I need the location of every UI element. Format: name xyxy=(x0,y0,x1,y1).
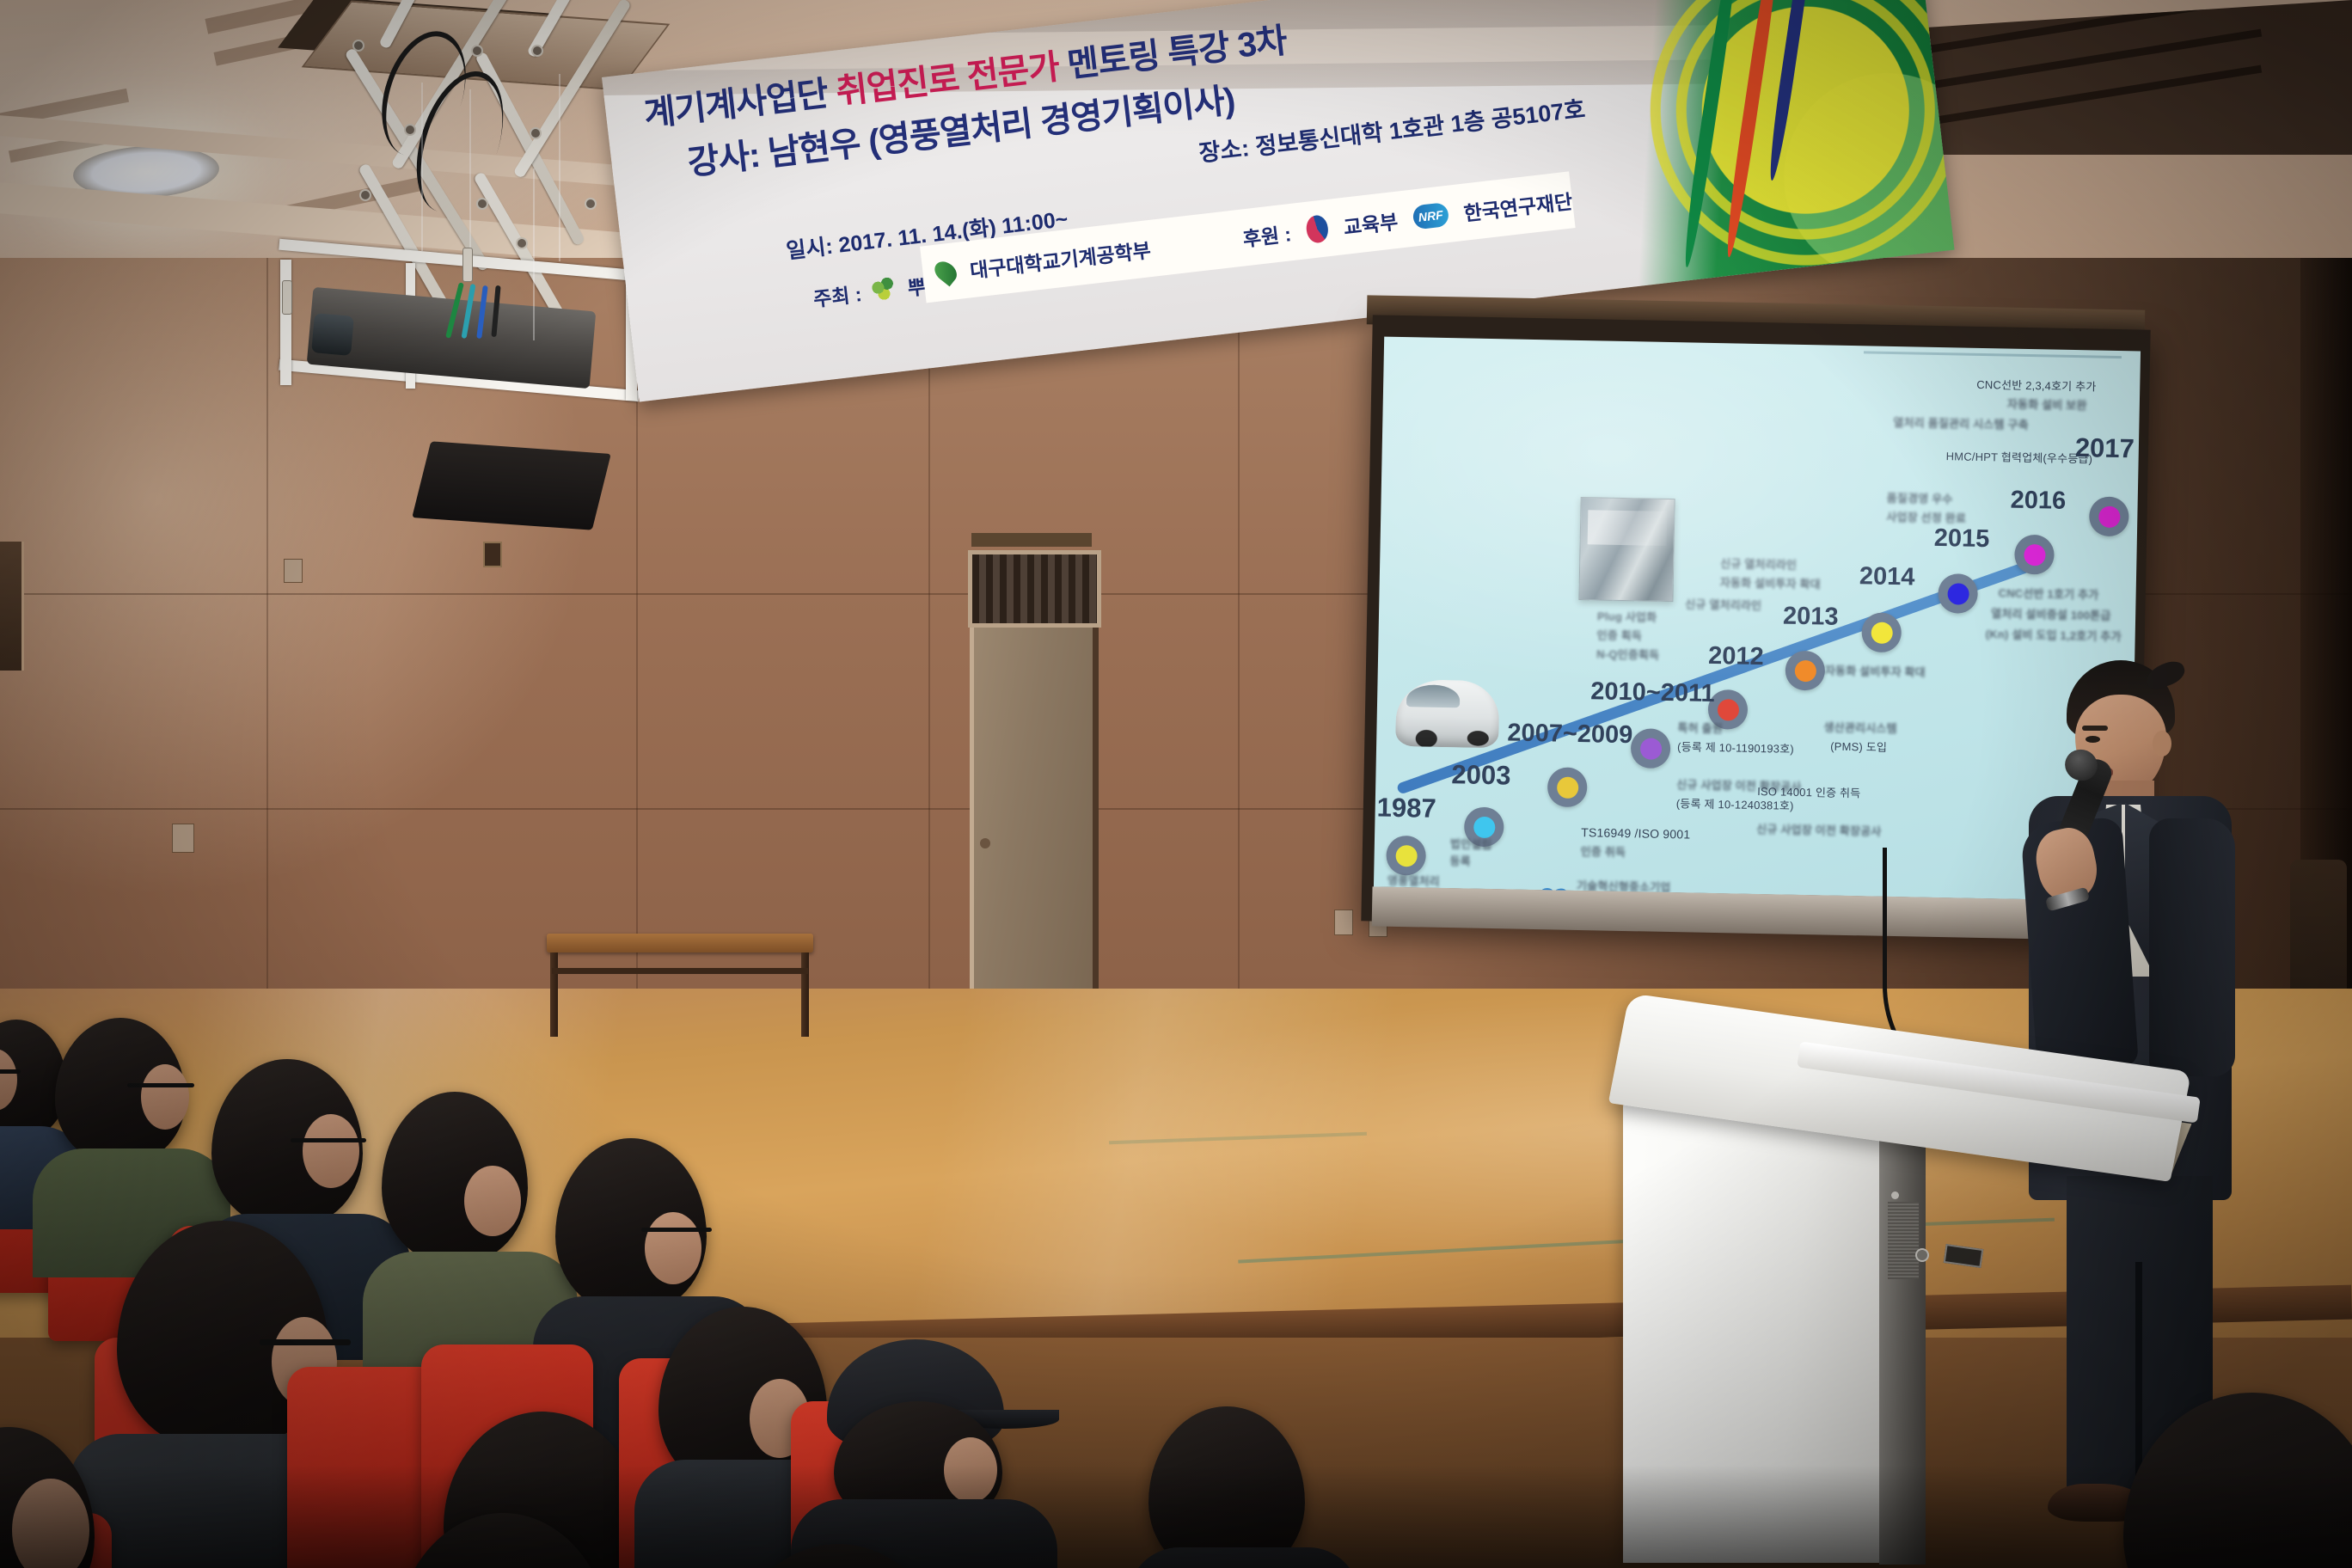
timeline-year-2016: 2016 xyxy=(2010,487,2066,516)
note-hmc-hpt: HMC/HPT 협력업체(우수등급) xyxy=(1945,449,2092,468)
audience-face xyxy=(645,1212,701,1284)
note-2017-2: 자동화 설비 보완 xyxy=(2007,397,2087,415)
note-2013-1: 신규 열처리라인 xyxy=(1720,556,1797,574)
projector-lens-icon xyxy=(311,313,354,356)
eyeglasses-icon xyxy=(0,1069,21,1074)
podium-screw xyxy=(1891,1191,1899,1199)
scissor-pin xyxy=(471,45,483,57)
timeline-year-2010-2011: 2010~2011 xyxy=(1590,677,1715,708)
timeline-year-2007-2009: 2007~2009 xyxy=(1507,719,1633,750)
note-2013-2: 자동화 설비투자 확대 xyxy=(1720,575,1821,593)
podium-lock-plate[interactable] xyxy=(1944,1244,1984,1268)
wall-sensor xyxy=(284,559,303,583)
suspension-wire xyxy=(559,74,560,261)
podium-center-post xyxy=(1879,1135,1926,1565)
banner-host-2: 대구대학교기계공학부 xyxy=(968,234,1152,284)
scissor-pin xyxy=(531,45,543,57)
audience-face xyxy=(464,1166,521,1236)
wire-teal xyxy=(461,284,475,339)
note-1987-line1: 법인설립 xyxy=(1450,836,1492,854)
note-2012-patent-1: 특허 출원 xyxy=(1677,720,1723,738)
note-plug-1: Plug 사업화 xyxy=(1597,609,1657,626)
podium-label-plate xyxy=(1888,1202,1919,1279)
wire-green xyxy=(445,282,464,338)
door-knob-icon[interactable] xyxy=(980,838,990,848)
timeline-year-2014: 2014 xyxy=(1859,562,1915,591)
bench-rail xyxy=(552,968,808,974)
note-cnc-3: (Kn) 설비 도입 1,2호기 추가 xyxy=(1986,627,2122,646)
note-2015-2: 사업장 선정 완료 xyxy=(1886,510,1966,528)
suspension-wire xyxy=(469,89,471,249)
note-cnc-1: CNC선반 1호기 추가 xyxy=(1998,585,2098,603)
wall-frame-panel xyxy=(0,542,24,671)
emergency-sign-icon xyxy=(483,542,502,567)
bench-top xyxy=(547,934,813,952)
eyeglasses-icon xyxy=(127,1083,194,1087)
audience-shoulders xyxy=(1128,1547,1360,1568)
audience-face xyxy=(944,1437,997,1503)
audience xyxy=(0,997,1771,1568)
note-2015-1: 품질경영 우수 xyxy=(1887,491,1953,508)
note-plug-3: N-Q인증획득 xyxy=(1596,646,1659,664)
wall-outlet[interactable] xyxy=(1334,910,1353,935)
lecture-hall-photo: 계기계사업단 취업진로 전문가 멘토링 특강 3차 강사: 남현우 (영풍열처리… xyxy=(0,0,2352,1568)
note-1987-line2: 등록 xyxy=(1449,854,1471,870)
timeline-year-1987: 1987 xyxy=(1376,793,1436,824)
note-iso-14001: ISO 14001 인증 취득 xyxy=(1757,784,1861,802)
banner-sponsor-2: 한국연구재단 xyxy=(1462,185,1574,226)
eyeglasses-icon xyxy=(260,1339,351,1345)
note-pms-1: 생산관리시스템 xyxy=(1823,720,1896,738)
note-ts-cert-1: TS16949 /ISO 9001 xyxy=(1581,824,1691,843)
banner-sponsor-1: 교육부 xyxy=(1342,205,1400,241)
droplet-logo-icon xyxy=(931,258,961,287)
presenter-hair-tuft xyxy=(2143,658,2188,692)
note-2012-patent-2: (등록 제 10-1190193호) xyxy=(1677,739,1794,757)
note-2012-misc: 신규 사업장 이전 확장공사 xyxy=(1756,822,1882,841)
door-transom-louver xyxy=(968,550,1101,628)
timeline-node-2016 xyxy=(2014,535,2055,575)
audience-face xyxy=(141,1064,189,1130)
timeline-node-2007-2009 xyxy=(1547,767,1588,807)
cage-edge xyxy=(279,239,640,282)
timeline-year-2012: 2012 xyxy=(1708,642,1764,671)
scissor-pin xyxy=(585,198,597,210)
scissor-pin xyxy=(530,127,542,139)
presenter-eye xyxy=(2086,736,2100,743)
timeline-node-2015 xyxy=(1938,573,1978,614)
timeline-node-2017 xyxy=(2089,496,2129,536)
eyeglasses-icon xyxy=(291,1138,366,1142)
timeline-node-2013 xyxy=(1785,651,1825,691)
suspension-wire xyxy=(421,83,423,251)
audience-face xyxy=(303,1114,359,1188)
banner-host-label: 주최 : xyxy=(812,278,863,312)
banner-sponsor-label: 후원 : xyxy=(1241,217,1293,252)
presenter-eyebrow xyxy=(2082,726,2108,731)
door-vent-icon xyxy=(971,533,1092,547)
scissor-pin xyxy=(476,198,488,210)
nrf-logo-icon: NRF xyxy=(1412,202,1449,230)
timeline-node-2014 xyxy=(1861,612,1902,652)
projector-wire-bundle xyxy=(447,282,550,342)
wire-blue xyxy=(476,285,488,339)
timeline-year-2013: 2013 xyxy=(1783,603,1839,632)
leaf-logo-icon xyxy=(868,275,900,304)
turnbuckle xyxy=(462,248,473,282)
taegeuk-logo-icon xyxy=(1305,214,1330,244)
projector-cage xyxy=(279,248,640,394)
suspension-wire xyxy=(533,168,535,340)
scissor-pin xyxy=(359,189,371,201)
timeline-year-2015: 2015 xyxy=(1934,524,1990,554)
eyeglasses-icon xyxy=(641,1228,712,1232)
note-pms-2: (PMS) 도입 xyxy=(1830,739,1887,756)
note-2017-1: CNC선반 2,3,4호기 추가 xyxy=(1976,377,2097,396)
presenter-ear xyxy=(2153,731,2171,756)
timeline-node-1987 xyxy=(1386,836,1426,876)
note-cnc-2: 열처리 설비증설 100톤급 xyxy=(1991,606,2111,625)
timeline-node-2010-2011 xyxy=(1631,728,1671,769)
factory-plant-photo xyxy=(1578,497,1675,602)
cage-edge xyxy=(280,260,291,385)
note-ts-cert-2: 인증 취득 xyxy=(1581,844,1626,861)
note-2017-3: 열처리 품질관리 시스템 구축 xyxy=(1893,415,2029,434)
turnbuckle xyxy=(282,280,292,315)
podium-keyhole-icon[interactable] xyxy=(1915,1248,1929,1262)
scissor-pin xyxy=(352,40,364,52)
slide-rule-line xyxy=(1864,351,2122,358)
note-2014-extra: 자동화 설비투자 확대 xyxy=(1825,664,1926,682)
note-plug-2: 인증 획득 xyxy=(1596,628,1642,645)
wire-black xyxy=(491,285,500,337)
timeline-year-2003: 2003 xyxy=(1451,759,1511,791)
note-2013-3: 신규 열처리라인 xyxy=(1685,597,1761,615)
banner-sponsor-strip: 대구대학교기계공학부 후원 : 교육부 NRF 한국연구재단 xyxy=(920,171,1576,303)
audience-head xyxy=(1148,1406,1305,1568)
wall-switch[interactable] xyxy=(172,824,194,853)
